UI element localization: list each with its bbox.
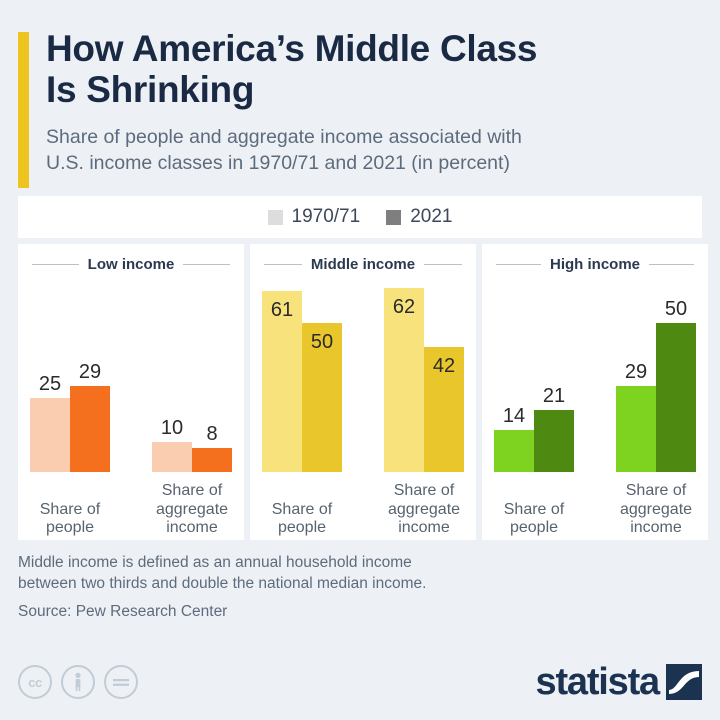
bar-group-label: Share of people bbox=[250, 501, 354, 538]
header: How America’s Middle Class Is Shrinking … bbox=[18, 0, 702, 196]
bottom-bar: cc statista bbox=[18, 658, 702, 706]
panel-rule-right bbox=[424, 264, 462, 265]
bar-group: 6242Share of aggregate income bbox=[378, 277, 470, 472]
bar[interactable]: 25 bbox=[30, 398, 70, 472]
panel-header: Middle income bbox=[256, 256, 470, 273]
bar[interactable]: 42 bbox=[424, 347, 464, 472]
panel-rule-left bbox=[32, 264, 79, 265]
panel-rule-right bbox=[649, 264, 694, 265]
bar-pair: 2950 bbox=[616, 323, 696, 472]
bar-group-label: Share of people bbox=[18, 501, 122, 538]
infographic-root: How America’s Middle Class Is Shrinking … bbox=[0, 0, 720, 720]
panel-header: High income bbox=[488, 256, 702, 273]
chart-legend: 1970/712021 bbox=[18, 196, 702, 238]
panel-middle-income: Middle income6150Share of people6242Shar… bbox=[250, 244, 476, 540]
panel-title: Low income bbox=[88, 256, 175, 273]
legend-label: 1970/71 bbox=[292, 206, 361, 228]
panel-header: Low income bbox=[24, 256, 238, 273]
panel-rule-left bbox=[264, 264, 302, 265]
bar-group-label: Share of aggregate income bbox=[604, 482, 708, 538]
panel-title: High income bbox=[550, 256, 640, 273]
bar-pair: 6242 bbox=[384, 288, 464, 472]
bar-group: 6150Share of people bbox=[256, 277, 348, 472]
bar-value-label: 14 bbox=[503, 406, 525, 426]
bar[interactable]: 62 bbox=[384, 288, 424, 472]
bar-group: 108Share of aggregate income bbox=[146, 277, 238, 472]
bar-value-label: 50 bbox=[665, 299, 687, 319]
panel-title: Middle income bbox=[311, 256, 415, 273]
bar[interactable]: 14 bbox=[494, 430, 534, 472]
bar-group-label: Share of aggregate income bbox=[140, 482, 244, 538]
bar-value-label: 50 bbox=[311, 332, 333, 352]
legend-item: 2021 bbox=[386, 206, 452, 228]
bar-group: 1421Share of people bbox=[488, 277, 580, 472]
cc-by-attribution-icon[interactable] bbox=[61, 665, 95, 699]
panel-plot: 6150Share of people6242Share of aggregat… bbox=[256, 277, 470, 540]
creative-commons-icons: cc bbox=[18, 665, 138, 699]
bar[interactable]: 50 bbox=[302, 323, 342, 472]
bar-value-label: 29 bbox=[79, 362, 101, 382]
bar-pair: 2529 bbox=[30, 386, 110, 472]
bar[interactable]: 50 bbox=[656, 323, 696, 472]
equals-glyph bbox=[111, 675, 131, 689]
bar[interactable]: 8 bbox=[192, 448, 232, 472]
bar-value-label: 21 bbox=[543, 386, 565, 406]
cc-nd-no-derivatives-icon[interactable] bbox=[104, 665, 138, 699]
page-subtitle: Share of people and aggregate income ass… bbox=[46, 124, 702, 176]
bar-group-label: Share of aggregate income bbox=[372, 482, 476, 538]
bar-value-label: 62 bbox=[393, 297, 415, 317]
bar-group: 2529Share of people bbox=[24, 277, 116, 472]
chart-source: Source: Pew Research Center bbox=[18, 603, 702, 621]
legend-item: 1970/71 bbox=[268, 206, 361, 228]
bar-value-label: 8 bbox=[206, 424, 217, 444]
bar-group-label: Share of people bbox=[482, 501, 586, 538]
cc-icon[interactable]: cc bbox=[18, 665, 52, 699]
bar-value-label: 29 bbox=[625, 362, 647, 382]
statista-logo[interactable]: statista bbox=[536, 663, 702, 701]
bar-value-label: 10 bbox=[161, 418, 183, 438]
bar[interactable]: 21 bbox=[534, 410, 574, 472]
bar-value-label: 61 bbox=[271, 300, 293, 320]
bar-value-label: 25 bbox=[39, 374, 61, 394]
page-title: How America’s Middle Class Is Shrinking bbox=[46, 28, 702, 111]
legend-label: 2021 bbox=[410, 206, 452, 228]
bar-pair: 6150 bbox=[262, 291, 342, 472]
legend-swatch bbox=[268, 210, 283, 225]
cc-icon-glyph: cc bbox=[28, 675, 41, 690]
panel-plot: 1421Share of people2950Share of aggregat… bbox=[488, 277, 702, 540]
person-glyph bbox=[70, 672, 86, 692]
header-accent-bar bbox=[18, 32, 29, 188]
bar-pair: 1421 bbox=[494, 410, 574, 472]
panel-high-income: High income1421Share of people2950Share … bbox=[482, 244, 708, 540]
bar[interactable]: 29 bbox=[616, 386, 656, 472]
bar[interactable]: 10 bbox=[152, 442, 192, 472]
statista-mark-icon bbox=[666, 664, 702, 700]
bar-group: 2950Share of aggregate income bbox=[610, 277, 702, 472]
panel-low-income: Low income2529Share of people108Share of… bbox=[18, 244, 244, 540]
statista-wordmark: statista bbox=[536, 663, 659, 701]
bar-pair: 108 bbox=[152, 442, 232, 472]
legend-swatch bbox=[386, 210, 401, 225]
bar[interactable]: 61 bbox=[262, 291, 302, 472]
bar[interactable]: 29 bbox=[70, 386, 110, 472]
panel-rule-right bbox=[183, 264, 230, 265]
panel-plot: 2529Share of people108Share of aggregate… bbox=[24, 277, 238, 540]
chart-panels: Low income2529Share of people108Share of… bbox=[18, 244, 702, 540]
bar-value-label: 42 bbox=[433, 356, 455, 376]
panel-rule-left bbox=[496, 264, 541, 265]
chart-footnote: Middle income is defined as an annual ho… bbox=[18, 552, 702, 594]
